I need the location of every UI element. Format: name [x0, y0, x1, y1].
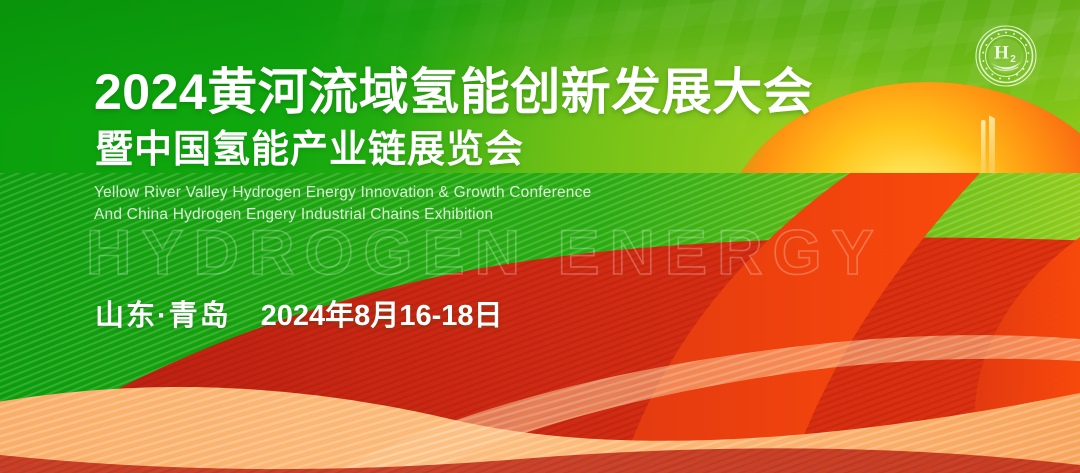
banner-content: HYDROGEN ENERGY 2024黄河流域氢能创新发展大会 暨中国氢能产业… — [0, 0, 1080, 473]
hydrogen-energy-watermark: HYDROGEN ENERGY — [86, 222, 884, 285]
english-title-line-1: Yellow River Valley Hydrogen Energy Inno… — [94, 182, 591, 204]
event-meta-row: 山东·青岛 2024年8月16-18日 — [95, 292, 503, 334]
svg-text:2: 2 — [1010, 54, 1016, 65]
svg-text:H: H — [994, 43, 1009, 64]
page-subtitle: 暨中国氢能产业链展览会 — [95, 128, 524, 173]
page-title: 2024黄河流域氢能创新发展大会 — [94, 64, 813, 120]
english-title-block: Yellow River Valley Hydrogen Energy Inno… — [94, 182, 591, 226]
event-date: 2024年8月16-18日 — [261, 292, 503, 334]
hydrogen-seal-logo-icon: H 2 — [974, 24, 1038, 88]
event-location: 山东·青岛 — [95, 292, 231, 334]
conference-banner: HYDROGEN ENERGY 2024黄河流域氢能创新发展大会 暨中国氢能产业… — [0, 0, 1080, 473]
english-title-line-2: And China Hydrogen Engery Industrial Cha… — [94, 204, 591, 226]
